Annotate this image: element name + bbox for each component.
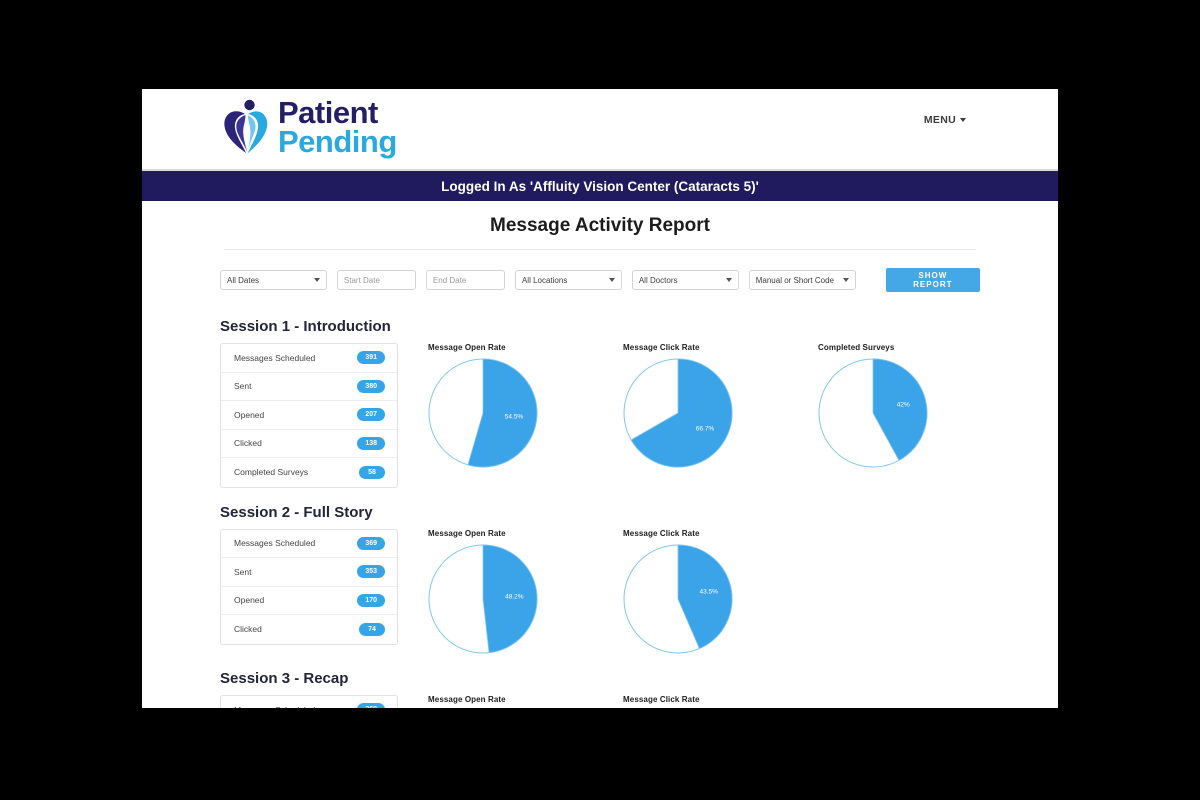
stat-row: Messages Scheduled391 bbox=[221, 344, 397, 373]
report-body: Message Activity Report All Dates Start … bbox=[142, 201, 1058, 708]
stat-row: Clicked138 bbox=[221, 430, 397, 459]
session-row: Messages Scheduled369Message Open Rate M… bbox=[220, 695, 980, 709]
charts-area: Message Open Rate 48.2%Message Click Rat… bbox=[398, 529, 980, 654]
logo-wordmark: Patient Pending bbox=[278, 99, 397, 156]
end-date-placeholder: End Date bbox=[433, 276, 466, 285]
chart-caption: Message Click Rate bbox=[623, 343, 818, 352]
all-locations-value: All Locations bbox=[522, 276, 567, 285]
chart-caption: Message Open Rate bbox=[428, 529, 623, 538]
pie-chart: Message Click Rate 66.7% bbox=[623, 343, 818, 468]
end-date-input[interactable]: End Date bbox=[426, 270, 505, 290]
session-row: Messages Scheduled369Sent353Opened170Cli… bbox=[220, 529, 980, 654]
stat-row: Completed Surveys58 bbox=[221, 458, 397, 487]
stat-label: Sent bbox=[234, 567, 252, 577]
patient-pending-logo[interactable]: Patient Pending bbox=[222, 97, 397, 159]
chevron-down-icon bbox=[609, 278, 615, 282]
pie-chart: Message Open Rate bbox=[428, 695, 623, 709]
stat-value-badge: 353 bbox=[357, 565, 385, 578]
logged-in-text: Logged In As 'Affluity Vision Center (Ca… bbox=[441, 179, 759, 194]
heart-figure-icon bbox=[222, 97, 270, 159]
stat-value-badge: 207 bbox=[357, 408, 385, 421]
all-doctors-value: All Doctors bbox=[639, 276, 678, 285]
stat-label: Messages Scheduled bbox=[234, 538, 315, 548]
stat-row: Messages Scheduled369 bbox=[221, 530, 397, 559]
chevron-down-icon bbox=[726, 278, 732, 282]
stat-label: Sent bbox=[234, 381, 252, 391]
pie-graphic: 42% bbox=[818, 358, 928, 468]
menu-label: MENU bbox=[924, 114, 956, 126]
pie-graphic: 48.2% bbox=[428, 544, 538, 654]
chevron-down-icon bbox=[960, 118, 966, 122]
session-stats-card: Messages Scheduled369 bbox=[220, 695, 398, 709]
stat-label: Completed Surveys bbox=[234, 467, 308, 477]
stat-value-badge: 369 bbox=[357, 703, 385, 708]
pie-graphic: 54.5% bbox=[428, 358, 538, 468]
logged-in-banner: Logged In As 'Affluity Vision Center (Ca… bbox=[142, 171, 1058, 201]
start-date-placeholder: Start Date bbox=[344, 276, 380, 285]
start-date-input[interactable]: Start Date bbox=[337, 270, 416, 290]
chart-caption: Completed Surveys bbox=[818, 343, 1013, 352]
session-block: Session 1 - IntroductionMessages Schedul… bbox=[220, 318, 980, 488]
pie-chart: Message Click Rate bbox=[623, 695, 818, 709]
code-type-value: Manual or Short Code bbox=[756, 276, 834, 285]
pie-chart: Completed Surveys 42% bbox=[818, 343, 1013, 468]
chart-caption: Message Open Rate bbox=[428, 343, 623, 352]
chart-caption: Message Open Rate bbox=[428, 695, 623, 704]
stat-value-badge: 391 bbox=[357, 351, 385, 364]
session-stats-card: Messages Scheduled391Sent380Opened207Cli… bbox=[220, 343, 398, 488]
sessions-list: Session 1 - IntroductionMessages Schedul… bbox=[220, 318, 980, 708]
stat-row: Sent380 bbox=[221, 373, 397, 402]
all-doctors-select[interactable]: All Doctors bbox=[632, 270, 739, 290]
show-report-button[interactable]: SHOW REPORT bbox=[886, 268, 980, 292]
session-stats-card: Messages Scheduled369Sent353Opened170Cli… bbox=[220, 529, 398, 645]
pie-chart: Message Open Rate 48.2% bbox=[428, 529, 623, 654]
stat-row: Opened207 bbox=[221, 401, 397, 430]
session-block: Session 3 - RecapMessages Scheduled369Me… bbox=[220, 670, 980, 709]
chevron-down-icon bbox=[843, 278, 849, 282]
stat-value-badge: 380 bbox=[357, 380, 385, 393]
stat-value-badge: 58 bbox=[359, 466, 385, 479]
page-title: Message Activity Report bbox=[224, 201, 976, 250]
screenshot-viewport: Patient Pending MENU Logged In As 'Afflu… bbox=[0, 0, 1200, 800]
stat-row: Sent353 bbox=[221, 558, 397, 587]
pie-graphic: 66.7% bbox=[623, 358, 733, 468]
code-type-select[interactable]: Manual or Short Code bbox=[749, 270, 856, 290]
session-row: Messages Scheduled391Sent380Opened207Cli… bbox=[220, 343, 980, 488]
charts-area: Message Open Rate Message Click Rate bbox=[398, 695, 980, 709]
all-dates-value: All Dates bbox=[227, 276, 259, 285]
session-title: Session 3 - Recap bbox=[220, 670, 980, 687]
stat-label: Clicked bbox=[234, 624, 262, 634]
stat-label: Opened bbox=[234, 410, 264, 420]
web-page: Patient Pending MENU Logged In As 'Afflu… bbox=[142, 89, 1058, 708]
session-title: Session 1 - Introduction bbox=[220, 318, 980, 335]
stat-label: Messages Scheduled bbox=[234, 705, 315, 708]
stat-row: Clicked74 bbox=[221, 615, 397, 644]
stat-value-badge: 170 bbox=[357, 594, 385, 607]
stat-value-badge: 369 bbox=[357, 537, 385, 550]
stat-value-badge: 138 bbox=[357, 437, 385, 450]
all-dates-select[interactable]: All Dates bbox=[220, 270, 327, 290]
filter-bar: All Dates Start Date End Date All Locati… bbox=[220, 250, 980, 302]
pie-chart: Message Open Rate 54.5% bbox=[428, 343, 623, 468]
chart-caption: Message Click Rate bbox=[623, 529, 818, 538]
charts-area: Message Open Rate 54.5%Message Click Rat… bbox=[398, 343, 1013, 468]
stat-value-badge: 74 bbox=[359, 623, 385, 636]
pie-chart: Message Click Rate 43.5% bbox=[623, 529, 818, 654]
stat-label: Opened bbox=[234, 595, 264, 605]
chart-caption: Message Click Rate bbox=[623, 695, 818, 704]
all-locations-select[interactable]: All Locations bbox=[515, 270, 622, 290]
stat-label: Clicked bbox=[234, 438, 262, 448]
stat-row: Messages Scheduled369 bbox=[221, 696, 397, 709]
menu-button[interactable]: MENU bbox=[924, 114, 966, 126]
pie-graphic: 43.5% bbox=[623, 544, 733, 654]
session-title: Session 2 - Full Story bbox=[220, 504, 980, 521]
logo-word-pending: Pending bbox=[278, 128, 397, 157]
chevron-down-icon bbox=[314, 278, 320, 282]
site-header: Patient Pending MENU bbox=[142, 89, 1058, 171]
session-block: Session 2 - Full StoryMessages Scheduled… bbox=[220, 504, 980, 654]
stat-label: Messages Scheduled bbox=[234, 353, 315, 363]
stat-row: Opened170 bbox=[221, 587, 397, 616]
